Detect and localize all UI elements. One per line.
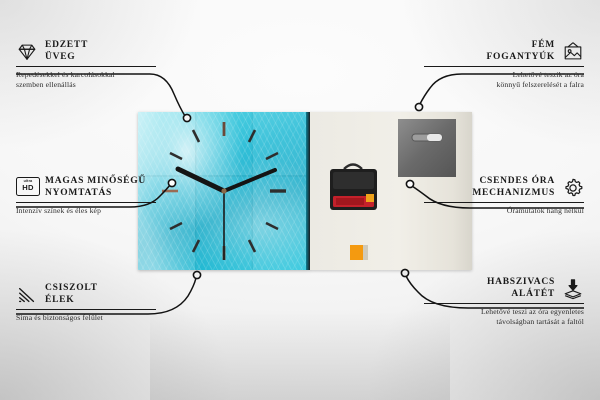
- wall-mount-icon: [562, 41, 584, 63]
- feature-header: CSISZOLTÉLEK: [16, 283, 156, 306]
- feature-subtitle: Repedésekkel és karcolásokkalszemben ell…: [16, 70, 156, 89]
- vignette-bottom-center: [150, 310, 450, 400]
- feature-fem-fogantyuk[interactable]: FÉMFOGANTYÚK Lehetővé teszik az órakönny…: [424, 40, 584, 89]
- feature-csendes-ora-mechanizmus[interactable]: CSENDES ÓRAMECHANIZMUS Óramutatók hang n…: [424, 176, 584, 216]
- feature-csiszolt-elek[interactable]: CSISZOLTÉLEK Sima és biztonságos felület: [16, 283, 156, 323]
- feature-header: EDZETTÜVEG: [16, 40, 156, 63]
- clock-dial: [138, 112, 310, 270]
- infographic-canvas: EDZETTÜVEG Repedésekkel és karcolásokkal…: [0, 0, 600, 400]
- clock-hands: [178, 169, 275, 260]
- clock-front-panel: [138, 112, 310, 270]
- foam-pad-icon: [562, 278, 584, 300]
- feature-edzett-uveg[interactable]: EDZETTÜVEG Repedésekkel és karcolásokkal…: [16, 40, 156, 89]
- feature-title: MAGAS MINŐSÉGŰNYOMTATÁS: [45, 176, 146, 199]
- feature-title: CSISZOLTÉLEK: [45, 283, 98, 306]
- feature-title: HABSZIVACSALÁTÉT: [487, 277, 555, 300]
- feature-title: EDZETTÜVEG: [45, 40, 88, 63]
- gear-icon: [562, 177, 584, 199]
- feature-habszivacs-alatet[interactable]: HABSZIVACSALÁTÉT Lehetővé teszi az óra e…: [424, 277, 584, 326]
- feature-title: FÉMFOGANTYÚK: [487, 40, 556, 63]
- divider: [16, 309, 156, 310]
- divider: [424, 66, 584, 67]
- metal-hanger-icon: [398, 119, 456, 177]
- divider: [16, 202, 156, 203]
- feature-header: CSENDES ÓRAMECHANIZMUS: [424, 176, 584, 199]
- divider: [16, 66, 156, 67]
- divider: [424, 303, 584, 304]
- polished-edges-icon: [16, 284, 38, 306]
- feature-header: FÉMFOGANTYÚK: [424, 40, 584, 63]
- feature-header: HABSZIVACSALÁTÉT: [424, 277, 584, 300]
- feature-magas-minosegu-nyomtatas[interactable]: ultraHD MAGAS MINŐSÉGŰNYOMTATÁS Intenzív…: [16, 176, 156, 216]
- clock-mechanism-part: [330, 165, 377, 211]
- feature-title: CSENDES ÓRAMECHANIZMUS: [472, 176, 555, 199]
- feature-header: ultraHD MAGAS MINŐSÉGŰNYOMTATÁS: [16, 176, 156, 199]
- feature-subtitle: Lehetővé teszik az órakönnyű felszerelés…: [424, 70, 584, 89]
- ultra-hd-icon: ultraHD: [16, 177, 38, 199]
- feature-subtitle: Lehetővé teszi az óra egyenletestávolság…: [424, 307, 584, 326]
- divider: [424, 202, 584, 203]
- diamond-icon: [16, 41, 38, 63]
- product-image: [138, 112, 472, 270]
- feature-subtitle: Intenzív színek és éles kép: [16, 206, 156, 216]
- feature-subtitle: Óramutatók hang nélkül: [424, 206, 584, 216]
- feature-subtitle: Sima és biztonságos felület: [16, 313, 156, 323]
